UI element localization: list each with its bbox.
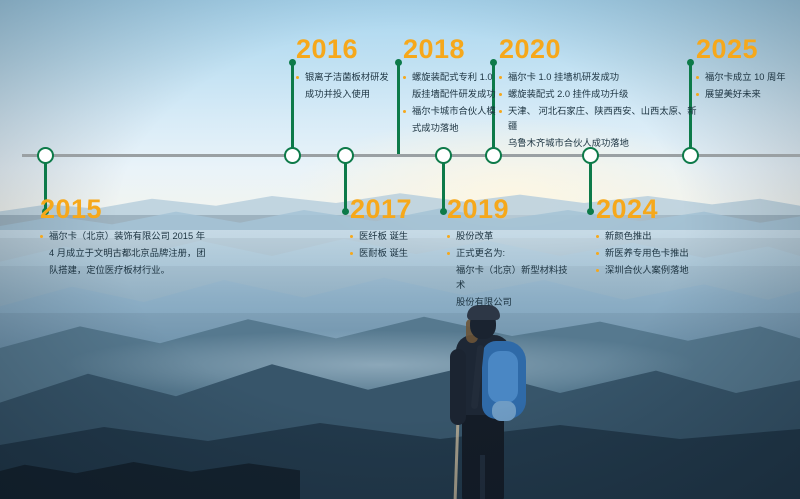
bullet-item: 股份改革 [447,229,572,244]
timeline-stem-dot-2017 [342,208,349,215]
timeline-entry-2015[interactable]: 2015福尔卡（北京）装饰有限公司 2015 年4 月成立于文明古都北京品牌注册… [40,196,215,280]
timeline-stem-2016 [291,62,294,154]
bullet-item: 福尔卡城市合伙人模 [403,104,501,119]
timeline-stem-2024 [589,163,592,211]
year-label-2017: 2017 [350,196,450,223]
bullet-item: 福尔卡（北京）新型材料技术 [447,263,572,293]
bullet-list-2020: 福尔卡 1.0 挂墙机研发成功螺旋装配式 2.0 挂件成功升级天津、 河北石家庄… [499,70,699,151]
bullet-item: 福尔卡（北京）装饰有限公司 2015 年 [40,229,215,244]
bullet-list-2016: 银离子洁菌板材研发成功并投入使用 [296,70,396,102]
bullet-item: 成功并投入使用 [296,87,396,102]
bullet-list-2018: 螺旋装配式专利 1.0版挂墙配件研发成功福尔卡城市合伙人模式成功落地 [403,70,501,136]
bullet-item: 展望美好未来 [696,87,800,102]
bullet-item: 队搭建，定位医疗板材行业。 [40,263,215,278]
year-label-2025: 2025 [696,36,800,63]
timeline-node-4[interactable] [435,147,452,164]
year-label-2018: 2018 [403,36,501,63]
bullet-item: 银离子洁菌板材研发 [296,70,396,85]
timeline-node-1[interactable] [37,147,54,164]
year-label-2024: 2024 [596,196,721,223]
year-label-2019: 2019 [447,196,572,223]
timeline-node-2[interactable] [284,147,301,164]
bullet-item: 版挂墙配件研发成功 [403,87,501,102]
bullet-item: 正式更名为: [447,246,572,261]
bullet-item: 4 月成立于文明古都北京品牌注册，团 [40,246,215,261]
bullet-item: 式成功落地 [403,121,501,136]
bullet-list-2015: 福尔卡（北京）装饰有限公司 2015 年4 月成立于文明古都北京品牌注册，团队搭… [40,229,215,278]
timeline-infographic: 2015福尔卡（北京）装饰有限公司 2015 年4 月成立于文明古都北京品牌注册… [0,0,800,499]
bullet-item: 新颜色推出 [596,229,721,244]
timeline-entry-2020[interactable]: 2020福尔卡 1.0 挂墙机研发成功螺旋装配式 2.0 挂件成功升级天津、 河… [499,36,699,153]
bullet-item: 螺旋装配式 2.0 挂件成功升级 [499,87,699,102]
timeline-entry-2018[interactable]: 2018螺旋装配式专利 1.0版挂墙配件研发成功福尔卡城市合伙人模式成功落地 [403,36,501,138]
bullet-item: 医纤板 诞生 [350,229,450,244]
timeline-stem-dot-2024 [587,208,594,215]
bullet-item: 天津、 河北石家庄、陕西西安、山西太原、新疆 [499,104,699,134]
bullet-item: 福尔卡成立 10 周年 [696,70,800,85]
bullet-item: 乌鲁木齐城市合伙人成功落地 [499,136,699,151]
bullet-item: 螺旋装配式专利 1.0 [403,70,501,85]
year-label-2015: 2015 [40,196,215,223]
timeline-entry-2025[interactable]: 2025福尔卡成立 10 周年展望美好未来 [696,36,800,104]
timeline-stem-2018 [397,62,400,154]
bullet-item: 新医养专用色卡推出 [596,246,721,261]
timeline-node-3[interactable] [337,147,354,164]
year-label-2020: 2020 [499,36,699,63]
timeline-entry-2017[interactable]: 2017医纤板 诞生医耐板 诞生 [350,196,450,263]
timeline-entry-2024[interactable]: 2024新颜色推出新医养专用色卡推出深圳合伙人案例落地 [596,196,721,280]
timeline-entry-2016[interactable]: 2016银离子洁菌板材研发成功并投入使用 [296,36,396,104]
bullet-item: 医耐板 诞生 [350,246,450,261]
bullet-item: 福尔卡 1.0 挂墙机研发成功 [499,70,699,85]
bullet-item: 股份有限公司 [447,295,572,310]
year-label-2016: 2016 [296,36,396,63]
bullet-item: 深圳合伙人案例落地 [596,263,721,278]
bullet-list-2025: 福尔卡成立 10 周年展望美好未来 [696,70,800,102]
bullet-list-2019: 股份改革正式更名为:福尔卡（北京）新型材料技术股份有限公司 [447,229,572,310]
bullet-list-2017: 医纤板 诞生医耐板 诞生 [350,229,450,261]
timeline-stem-2017 [344,163,347,211]
timeline-entry-2019[interactable]: 2019股份改革正式更名为:福尔卡（北京）新型材料技术股份有限公司 [447,196,572,312]
bullet-list-2024: 新颜色推出新医养专用色卡推出深圳合伙人案例落地 [596,229,721,278]
timeline-stem-dot-2016 [289,59,296,66]
